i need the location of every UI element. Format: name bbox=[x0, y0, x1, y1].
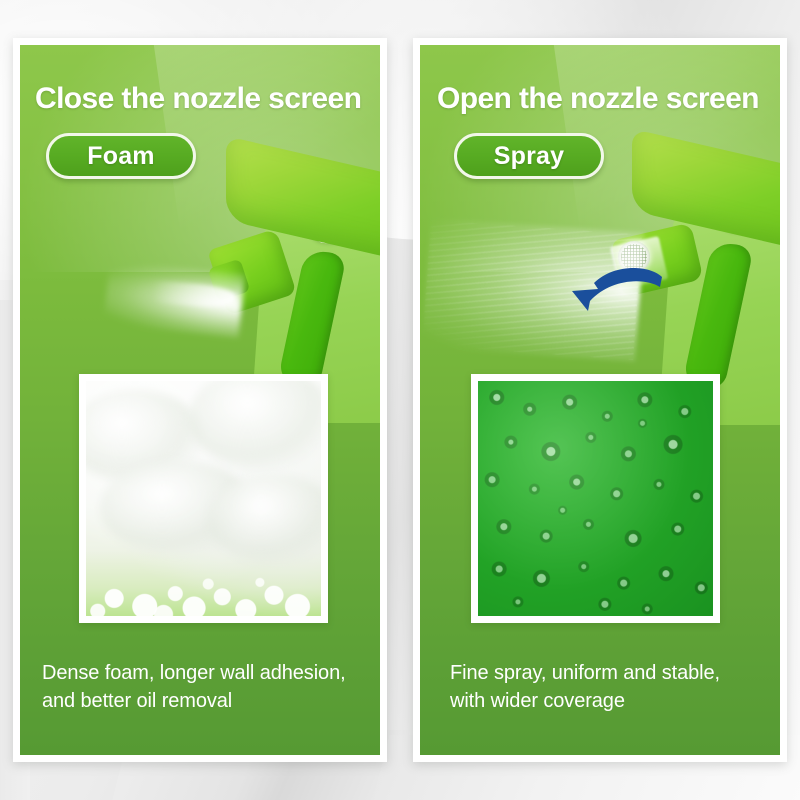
infographic-page: Close the nozzle screen Foam Dense foam,… bbox=[0, 0, 800, 800]
droplets-photo-frame bbox=[471, 374, 720, 623]
foam-photo bbox=[86, 381, 321, 616]
foam-jet-icon bbox=[103, 260, 245, 338]
fine-spray-icon bbox=[422, 218, 645, 363]
spray-caption-line-1: Fine spray, uniform and stable, bbox=[450, 659, 762, 687]
spray-caption-line-2: with wider coverage bbox=[450, 687, 762, 715]
spray-panel: Open the nozzle screen Spray Fine spray,… bbox=[413, 38, 787, 762]
trigger-lever bbox=[682, 242, 754, 390]
nozzle-tip bbox=[208, 259, 251, 302]
foam-caption-line-2: and better oil removal bbox=[42, 687, 362, 715]
foam-panel: Close the nozzle screen Foam Dense foam,… bbox=[13, 38, 387, 762]
foam-texture-b bbox=[189, 381, 321, 470]
foam-bubbles bbox=[86, 536, 321, 616]
foam-caption: Dense foam, longer wall adhesion, and be… bbox=[42, 659, 362, 715]
nozzle-collar bbox=[610, 236, 669, 290]
mode-badge-foam: Foam bbox=[46, 133, 196, 179]
droplets-sheen bbox=[478, 381, 713, 616]
mode-badge-spray: Spray bbox=[454, 133, 604, 179]
foam-photo-frame bbox=[79, 374, 328, 623]
foam-jet-core bbox=[129, 278, 237, 309]
page-title: Open the nozzle screen bbox=[437, 83, 780, 115]
bottle-label-patch bbox=[714, 188, 772, 235]
water-droplets-photo bbox=[478, 381, 713, 616]
mode-badge-label: Foam bbox=[87, 142, 154, 171]
bottle-label-patch-edge bbox=[756, 194, 780, 228]
bottle-label-patch bbox=[304, 197, 364, 247]
sprayer-head-shell bbox=[226, 136, 380, 262]
spray-caption: Fine spray, uniform and stable, with wid… bbox=[450, 659, 762, 715]
nozzle-head bbox=[207, 229, 296, 316]
foam-panel-canvas: Close the nozzle screen Foam Dense foam,… bbox=[20, 45, 380, 755]
mode-badge-label: Spray bbox=[494, 142, 564, 171]
fine-spray-streaks bbox=[422, 220, 642, 360]
nozzle-screen-icon bbox=[618, 241, 650, 273]
trigger-lever bbox=[277, 250, 347, 388]
spray-panel-canvas: Open the nozzle screen Spray Fine spray,… bbox=[420, 45, 780, 755]
bottle-label-patch-edge bbox=[348, 202, 380, 238]
foam-caption-line-1: Dense foam, longer wall adhesion, bbox=[42, 659, 362, 687]
curved-arrow-icon bbox=[566, 261, 670, 317]
nozzle-head bbox=[611, 223, 704, 298]
page-title: Close the nozzle screen bbox=[35, 83, 380, 115]
sprayer-head-shell bbox=[632, 129, 780, 252]
